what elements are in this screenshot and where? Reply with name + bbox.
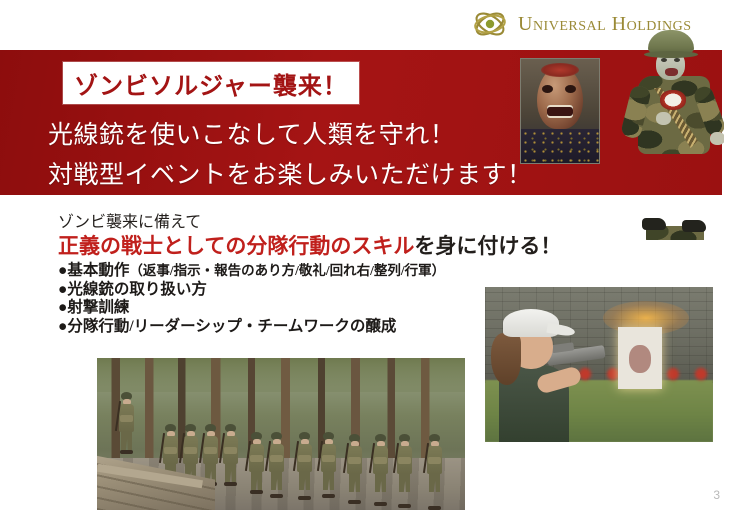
shooting-training-photo: [485, 287, 713, 442]
bullet-main: 基本動作: [67, 262, 129, 279]
list-item: ●分隊行動/リーダーシップ・チームワークの醸成: [58, 318, 445, 337]
zombie-soldier-eye-left: [661, 58, 667, 62]
zombie-soldier-wound: [660, 90, 686, 110]
zombie-soldier-mouth: [665, 68, 678, 76]
soldier-figure: [269, 432, 284, 496]
zombie-soldier-hand-left: [656, 112, 671, 125]
slide: Universal Holdings ゾンビソルジャー襲来！ 光線銃を使いこなし…: [0, 0, 736, 510]
bullet-sub: （返事/指示・報告のあり方/敬礼/回れ右/整列/行軍）: [129, 263, 445, 278]
bullet-marker: ●: [58, 299, 67, 316]
bullet-main: 射撃訓練: [67, 299, 129, 316]
lead-line-2-tail: を身に付ける！: [414, 234, 561, 258]
shooting-target: [618, 327, 662, 389]
zombie-mask-mouth: [547, 105, 573, 118]
zombie-mask-eye-left: [542, 85, 553, 93]
soldier-figure: [397, 434, 412, 506]
lead-line-1: ゾンビ襲来に備えて: [58, 208, 201, 232]
page-number: 3: [713, 488, 720, 502]
shooter-cap: [503, 309, 559, 337]
zombie-mask-eye-right: [565, 85, 576, 93]
soldier-figure: [119, 392, 134, 452]
banner-title-box: ゾンビソルジャー襲来！: [63, 62, 359, 104]
banner-line-2: 対戦型イベントをお楽しみいただけます！: [48, 155, 533, 191]
lead-line-2-accent: 正義の戦士としての分隊行動のスキル: [58, 234, 414, 258]
soldier-figure: [203, 424, 218, 484]
banner-title: ゾンビソルジャー襲来！: [74, 66, 348, 101]
bullet-marker: ●: [58, 262, 67, 279]
soldier-figure: [297, 432, 312, 498]
zombie-mask-shirt: [521, 129, 599, 163]
soldier-figure: [223, 424, 238, 484]
zombie-mask-gore: [541, 63, 579, 77]
list-item: ●光線銃の取り扱い方: [58, 281, 445, 300]
zombie-soldier-boot-right: [682, 220, 706, 232]
zombie-mask-photo: [520, 58, 600, 164]
soldier-figure: [347, 434, 362, 502]
soldier-figure: [373, 434, 388, 504]
zombie-soldier-photo: [620, 28, 724, 240]
list-item: ●基本動作（返事/指示・報告のあり方/敬礼/回れ右/整列/行軍）: [58, 262, 445, 281]
zombie-soldier-hand-right: [710, 132, 724, 145]
banner-line-1: 光線銃を使いこなして人類を守れ！: [48, 115, 455, 151]
bullet-main: 光線銃の取り扱い方: [67, 281, 207, 298]
soldiers-formation-photo: [97, 358, 465, 510]
zombie-soldier-boot-left: [642, 218, 666, 230]
soldier-figure: [321, 432, 336, 496]
zombie-soldier-eye-right: [674, 58, 680, 62]
curriculum-list: ●基本動作（返事/指示・報告のあり方/敬礼/回れ右/整列/行軍） ●光線銃の取り…: [58, 262, 445, 336]
shooter-hair: [491, 333, 521, 385]
bullet-marker: ●: [58, 318, 67, 335]
bullet-marker: ●: [58, 281, 67, 298]
lead-line-2: 正義の戦士としての分隊行動のスキルを身に付ける！: [58, 230, 561, 260]
bullet-main: 分隊行動/リーダーシップ・チームワークの醸成: [67, 318, 396, 335]
zombie-soldier-helmet: [648, 30, 694, 56]
atom-swirl-icon: [470, 4, 510, 44]
soldier-figure: [427, 434, 442, 508]
soldier-figure: [249, 432, 264, 492]
list-item: ●射撃訓練: [58, 299, 445, 318]
